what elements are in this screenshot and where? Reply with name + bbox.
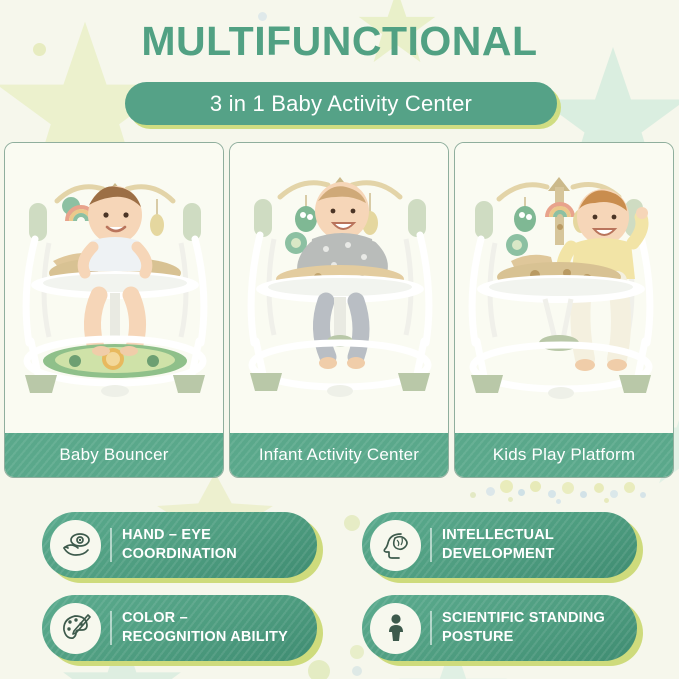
palette-brush-icon [50, 603, 101, 654]
product-panel[interactable]: Baby Bouncer [4, 142, 224, 478]
brain-head-icon [370, 520, 421, 571]
feature-label-line: COLOR – [122, 609, 317, 628]
feature-label: COLOR – RECOGNITION ABILITY [122, 609, 317, 646]
product-panel[interactable]: Infant Activity Center [229, 142, 449, 478]
feature-badge-grid: HAND – EYE COORDINATION INTELLECTUAL DEV… [0, 506, 679, 672]
feature-label-line: INTELLECTUAL [442, 526, 637, 545]
badge-divider [430, 528, 432, 562]
feature-label-line: HAND – EYE [122, 526, 317, 545]
product-photo-kids-play-platform [455, 143, 673, 435]
panel-caption: Infant Activity Center [230, 433, 448, 477]
feature-label-line: SCIENTIFIC STANDING [442, 609, 637, 628]
feature-label: HAND – EYE COORDINATION [122, 526, 317, 563]
page-title: MULTIFUNCTIONAL [0, 18, 679, 65]
badge-divider [110, 528, 112, 562]
product-photo-baby-bouncer [5, 143, 223, 435]
feature-label-line: DEVELOPMENT [442, 545, 637, 564]
feature-label-line: RECOGNITION ABILITY [122, 628, 317, 647]
header: MULTIFUNCTIONAL 3 in 1 Baby Activity Cen… [0, 0, 679, 136]
subtitle-banner: 3 in 1 Baby Activity Center [125, 82, 557, 125]
feature-badge-hand-eye[interactable]: HAND – EYE COORDINATION [42, 512, 317, 578]
product-panel[interactable]: Kids Play Platform [454, 142, 674, 478]
badge-divider [110, 611, 112, 645]
feature-badge-intellectual-development[interactable]: INTELLECTUAL DEVELOPMENT [362, 512, 637, 578]
hand-eye-icon [50, 520, 101, 571]
feature-label: SCIENTIFIC STANDING POSTURE [442, 609, 637, 646]
feature-label-line: POSTURE [442, 628, 637, 647]
product-panel-row: Baby Bouncer [4, 142, 675, 478]
feature-badge-color-recognition[interactable]: COLOR – RECOGNITION ABILITY [42, 595, 317, 661]
badge-divider [430, 611, 432, 645]
feature-label-line: COORDINATION [122, 545, 317, 564]
panel-caption: Baby Bouncer [5, 433, 223, 477]
subtitle-text: 3 in 1 Baby Activity Center [125, 82, 557, 125]
product-photo-infant-activity-center [230, 143, 448, 435]
feature-badge-standing-posture[interactable]: SCIENTIFIC STANDING POSTURE [362, 595, 637, 661]
standing-person-icon [370, 603, 421, 654]
panel-caption: Kids Play Platform [455, 433, 673, 477]
feature-label: INTELLECTUAL DEVELOPMENT [442, 526, 637, 563]
